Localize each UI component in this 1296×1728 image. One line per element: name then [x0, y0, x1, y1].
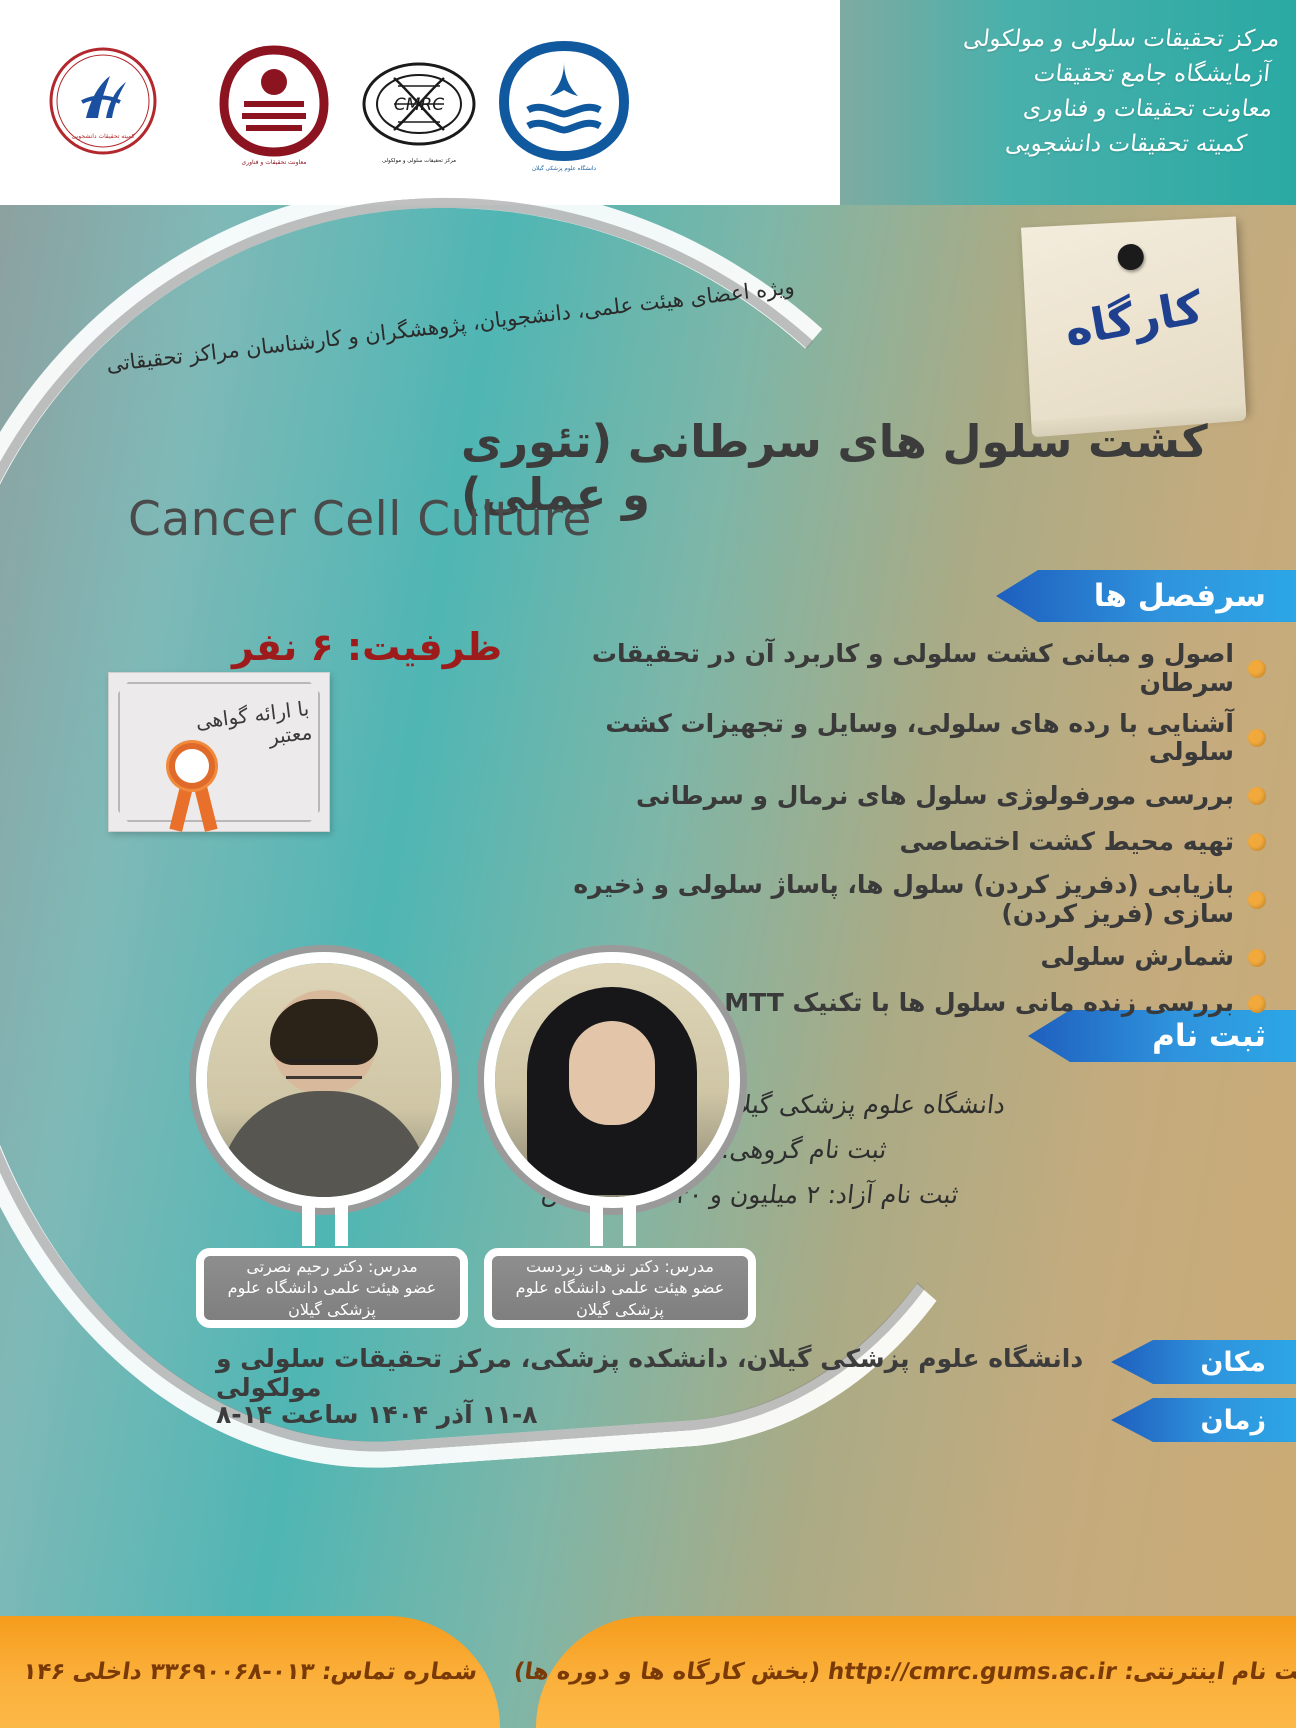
bullet-icon: [1248, 995, 1266, 1013]
instructor-name: مدرس: دکتر رحیم نصرتی: [246, 1256, 417, 1278]
instructor-photo-2: [484, 952, 740, 1208]
header-line-3: معاونت تحقیقات و فناوری: [800, 92, 1274, 127]
topic-text: بررسی مورفولوژی سلول های نرمال و سرطانی: [636, 782, 1234, 811]
list-item: بازیابی (دفریز کردن) سلول ها، پاساژ سلول…: [536, 871, 1266, 929]
topic-text: تهیه محیط کشت اختصاصی: [899, 828, 1234, 857]
instructor-name: مدرس: دکتر نزهت زبردست: [526, 1256, 714, 1278]
connector-stem: [590, 1200, 636, 1246]
bullet-icon: [1248, 891, 1266, 909]
gums-university-logo: دانشگاه علوم پزشکی گیلان: [494, 36, 634, 176]
topic-text: اصول و مبانی کشت سلولی و کاربرد آن در تح…: [536, 640, 1234, 698]
header-line-1: مرکز تحقیقات سلولی و مولکولی: [808, 22, 1282, 57]
research-deputy-logo: معاونت تحقیقات و فناوری: [214, 42, 334, 167]
svg-text:معاونت تحقیقات و فناوری: معاونت تحقیقات و فناوری: [242, 159, 307, 166]
workshop-sticky-note: کارگاه: [1021, 217, 1246, 423]
poster-canvas: کمیته تحقیقات دانشجویی معاونت تحقیقات و …: [0, 0, 1296, 1728]
time-value: ۱۱-۸ آذر ۱۴۰۴ ساعت ۱۴-۸: [216, 1400, 1086, 1429]
svg-text:CMRC: CMRC: [394, 95, 444, 115]
section-header-place-label: مکان: [1200, 1347, 1266, 1378]
footer-registration-panel: ثبت نام اینترنتی: http://cmrc.gums.ac.ir…: [536, 1616, 1296, 1728]
instructor-affiliation: عضو هیئت علمی دانشگاه علوم پزشکی گیلان: [204, 1277, 460, 1320]
topic-text: شمارش سلولی: [1041, 943, 1234, 972]
bullet-icon: [1248, 660, 1266, 678]
section-header-time-label: زمان: [1201, 1405, 1266, 1436]
svg-text:مرکز تحقیقات سلولی و مولکولی: مرکز تحقیقات سلولی و مولکولی: [382, 157, 456, 164]
seal-icon: [169, 743, 215, 789]
workshop-note-label: کارگاه: [1023, 274, 1244, 364]
list-item: تهیه محیط کشت اختصاصی: [536, 825, 1266, 859]
section-header-place: مکان: [1111, 1340, 1296, 1384]
header-line-2: آزمایشگاه جامع تحقیقات: [804, 57, 1278, 92]
instructor-caption-2: مدرس: دکتر نزهت زبردست عضو هیئت علمی دان…: [484, 1248, 756, 1328]
footer-contact-panel: شماره تماس: ۰۱۳-۳۳۶۹۰۰۶۸ داخلی ۱۴۶: [0, 1616, 500, 1728]
instructor-caption-1: مدرس: دکتر رحیم نصرتی عضو هیئت علمی دانش…: [196, 1248, 468, 1328]
portrait-female: [495, 963, 729, 1197]
instructor-affiliation: عضو هیئت علمی دانشگاه علوم پزشکی گیلان: [492, 1277, 748, 1320]
contact-text: شماره تماس: ۰۱۳-۳۳۶۹۰۰۶۸ داخلی ۱۴۶: [11, 1659, 489, 1685]
connector-stem: [302, 1200, 348, 1246]
list-item: آشنایی با رده های سلولی، وسایل و تجهیزات…: [536, 710, 1266, 768]
footer: ثبت نام اینترنتی: http://cmrc.gums.ac.ir…: [0, 1608, 1296, 1728]
target-audience-text: ویژه اعضای هیئت علمی، دانشجویان، پژوهشگر…: [236, 274, 795, 361]
page-title-en: Cancer Cell Culture: [128, 492, 592, 547]
certificate-card: با ارائه گواهی معتبر: [108, 672, 330, 832]
bullet-icon: [1248, 833, 1266, 851]
section-header-time: زمان: [1111, 1398, 1296, 1442]
portrait-male: [207, 963, 441, 1197]
section-header-topics-label: سرفصل ها: [1094, 578, 1266, 614]
bullet-icon: [1248, 949, 1266, 967]
logo-row: کمیته تحقیقات دانشجویی معاونت تحقیقات و …: [34, 24, 674, 184]
topic-text: بررسی زنده مانی سلول ها با تکنیک MTT: [724, 989, 1234, 1018]
list-item: بررسی مورفولوژی سلول های نرمال و سرطانی: [536, 779, 1266, 813]
header-titles: مرکز تحقیقات سلولی و مولکولی آزمایشگاه ج…: [797, 22, 1282, 162]
svg-text:دانشگاه علوم پزشکی گیلان: دانشگاه علوم پزشکی گیلان: [532, 164, 597, 172]
capacity-label: ظرفیت: ۶ نفر: [232, 625, 502, 669]
online-registration-text[interactable]: ثبت نام اینترنتی: http://cmrc.gums.ac.ir…: [503, 1659, 1296, 1685]
bullet-icon: [1248, 729, 1266, 747]
svg-text:کمیته تحقیقات دانشجویی: کمیته تحقیقات دانشجویی: [72, 133, 135, 140]
bullet-icon: [1248, 787, 1266, 805]
list-item: اصول و مبانی کشت سلولی و کاربرد آن در تح…: [536, 640, 1266, 698]
header-line-4: کمیته تحقیقات دانشجویی: [797, 127, 1271, 162]
pin-icon: [1117, 243, 1144, 270]
section-header-topics: سرفصل ها: [996, 570, 1296, 622]
instructor-photo-1: [196, 952, 452, 1208]
glasses-icon: [286, 1059, 362, 1079]
avatar: [196, 952, 452, 1208]
cmrc-logo: CMRC مرکز تحقیقات سلولی و مولکولی: [354, 44, 484, 174]
place-value: دانشگاه علوم پزشکی گیلان، دانشکده پزشکی،…: [216, 1344, 1086, 1402]
avatar: [484, 952, 740, 1208]
topic-text: آشنایی با رده های سلولی، وسایل و تجهیزات…: [536, 710, 1234, 768]
topic-text: بازیابی (دفریز کردن) سلول ها، پاساژ سلول…: [536, 871, 1234, 929]
student-research-committee-logo: کمیته تحقیقات دانشجویی: [48, 46, 158, 156]
